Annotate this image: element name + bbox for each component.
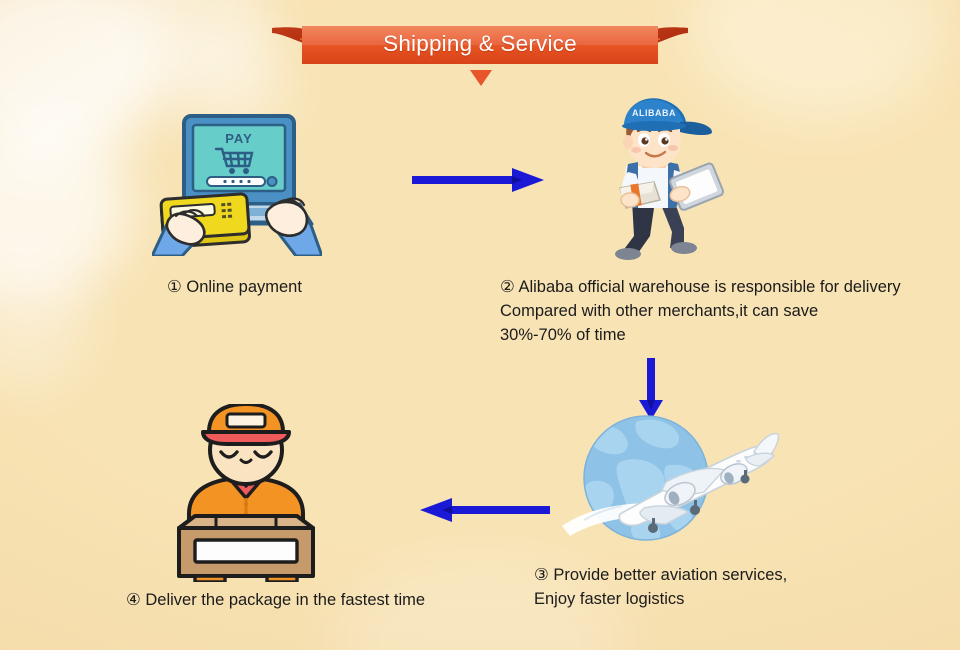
package-porter-icon <box>155 404 337 587</box>
courier-delivery-icon: ALIBABA <box>576 96 744 269</box>
step-4-caption: ④ Deliver the package in the fastest tim… <box>126 588 425 612</box>
cap-brand-label: ALIBABA <box>632 108 676 118</box>
svg-text:PAY: PAY <box>225 131 253 146</box>
online-payment-icon: PAY <box>152 104 322 261</box>
banner-caret-icon <box>470 70 492 86</box>
step-2-caption: ② Alibaba official warehouse is responsi… <box>500 275 901 347</box>
arrow-right-icon <box>412 166 544 199</box>
banner-ribbon: Shipping & Service <box>272 24 688 68</box>
globe-airplane-icon <box>548 408 780 563</box>
step-1-caption: ① Online payment <box>167 275 302 299</box>
step-3-caption: ③ Provide better aviation services, Enjo… <box>534 563 787 611</box>
shipping-service-infographic: Shipping & Service PAY <box>0 0 960 650</box>
arrow-left-icon <box>420 496 550 529</box>
